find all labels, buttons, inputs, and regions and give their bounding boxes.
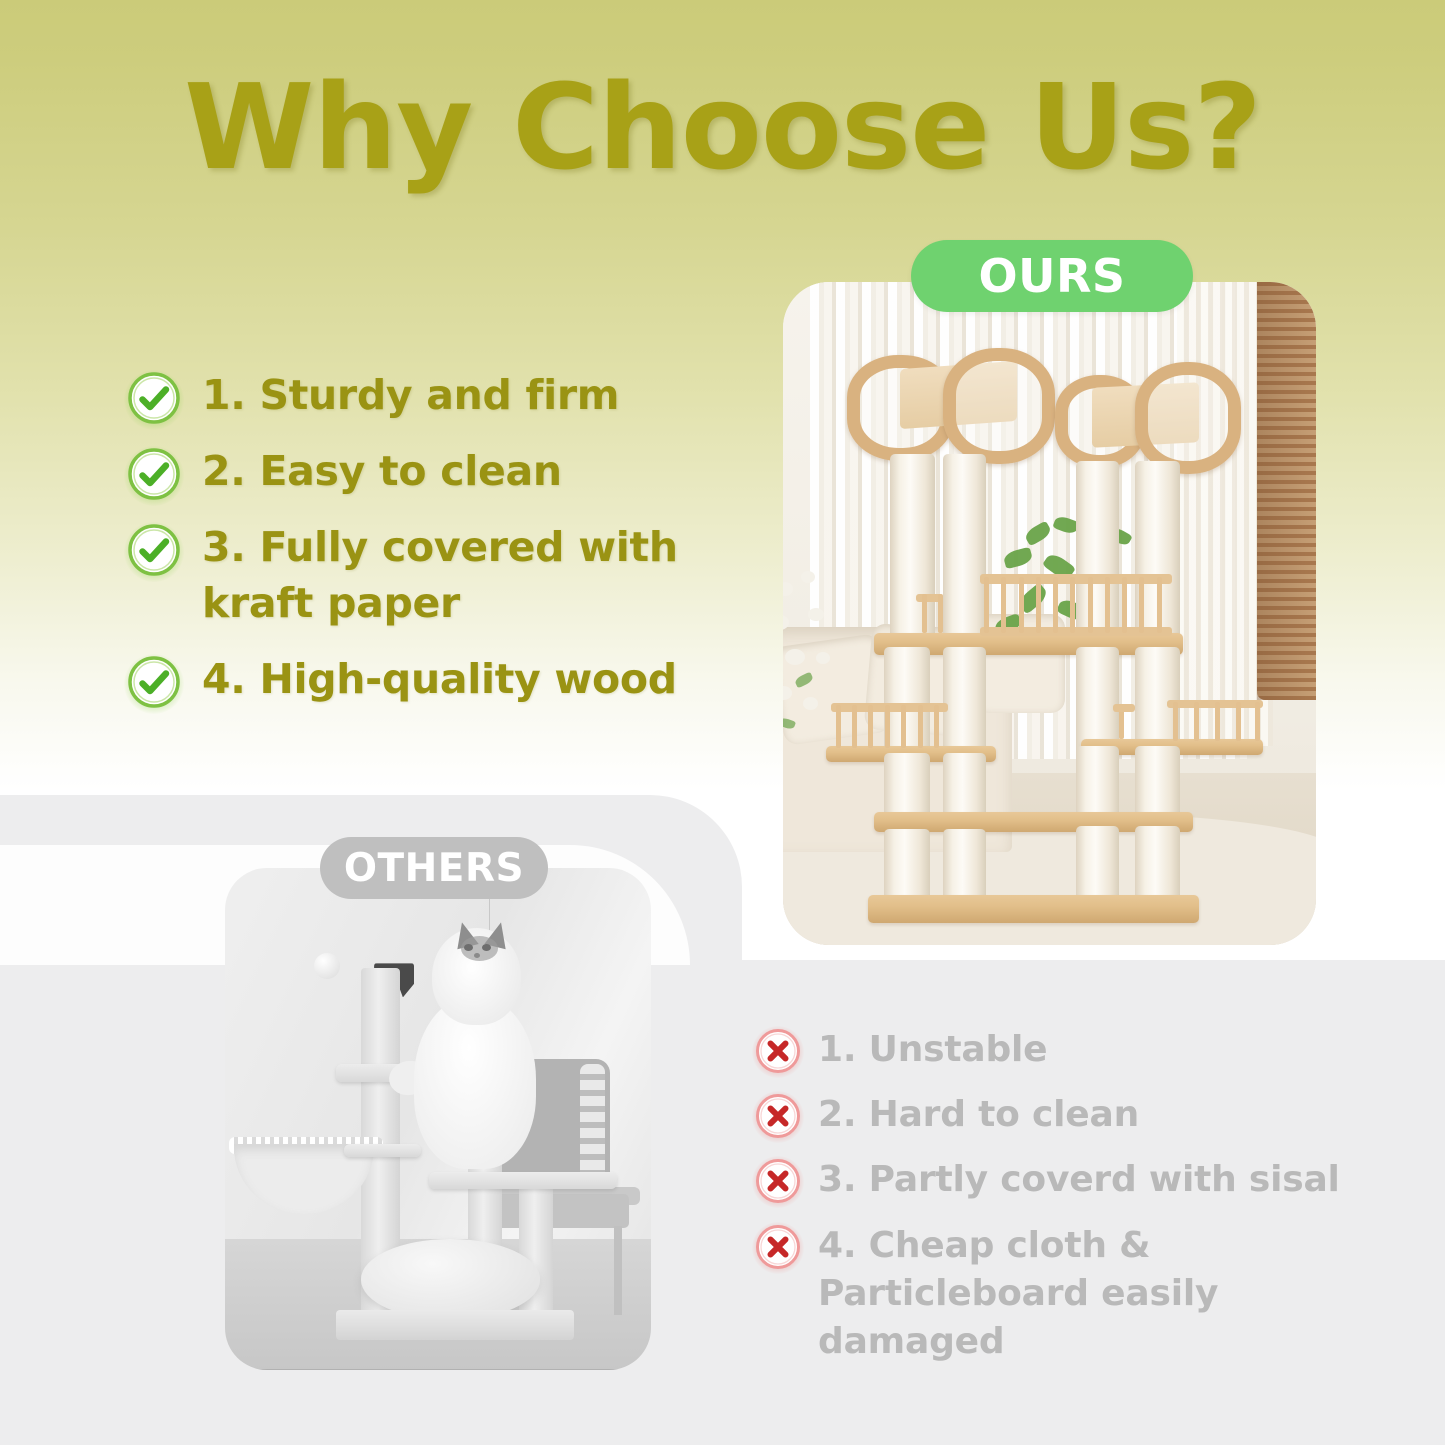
page-title: Why Choose Us? bbox=[0, 58, 1445, 196]
tunnel-perch bbox=[1135, 362, 1242, 475]
tunnel-perch bbox=[943, 348, 1055, 464]
list-item: 2. Easy to clean bbox=[128, 444, 728, 500]
railing-bars bbox=[831, 705, 948, 748]
check-circle-icon bbox=[128, 656, 180, 708]
cat-eye bbox=[482, 944, 491, 951]
others-badge-label: OTHERS bbox=[344, 846, 524, 891]
chair-leg bbox=[614, 1226, 622, 1315]
list-item: 3. Fully covered with kraft paper bbox=[128, 520, 728, 632]
pros-list: 1. Sturdy and firm 2. Easy to clean bbox=[128, 368, 728, 728]
base-board bbox=[336, 1310, 575, 1340]
list-item-label: 4. High-quality wood bbox=[202, 652, 677, 708]
railing-bars bbox=[980, 577, 1172, 633]
list-item: 3. Partly coverd with sisal bbox=[756, 1156, 1416, 1204]
list-item-label: 2. Hard to clean bbox=[818, 1091, 1139, 1139]
floor-line bbox=[225, 1369, 651, 1370]
sisal-post bbox=[890, 454, 935, 653]
list-item-label: 3. Partly coverd with sisal bbox=[818, 1156, 1340, 1204]
round-cat-bed bbox=[361, 1239, 540, 1319]
x-circle-icon bbox=[756, 1225, 800, 1269]
x-circle-icon bbox=[756, 1029, 800, 1073]
list-item-label: 1. Unstable bbox=[818, 1026, 1047, 1074]
others-photo bbox=[225, 868, 651, 1370]
check-circle-icon bbox=[128, 372, 180, 424]
check-circle-icon bbox=[128, 524, 180, 576]
list-item-label: 2. Easy to clean bbox=[202, 444, 562, 500]
ours-badge-label: OURS bbox=[978, 249, 1125, 303]
railing-stub bbox=[1113, 704, 1134, 712]
sisal-post bbox=[943, 454, 986, 653]
list-item: 4. High-quality wood bbox=[128, 652, 728, 708]
base-board bbox=[868, 895, 1198, 923]
cat-eye bbox=[464, 944, 473, 951]
cat-head bbox=[432, 928, 521, 1024]
list-item: 4. Cheap cloth & Particleboard easily da… bbox=[756, 1222, 1416, 1367]
others-scene bbox=[225, 868, 651, 1370]
list-item-label: 1. Sturdy and firm bbox=[202, 368, 619, 424]
check-circle-icon bbox=[128, 448, 180, 500]
railing-bars bbox=[1167, 702, 1263, 742]
x-circle-icon bbox=[756, 1159, 800, 1203]
railing-bar bbox=[938, 594, 943, 634]
list-item: 1. Sturdy and firm bbox=[128, 368, 728, 424]
x-circle-icon bbox=[756, 1094, 800, 1138]
wood-slat-shading bbox=[1257, 282, 1316, 700]
list-item: 1. Unstable bbox=[756, 1026, 1416, 1074]
ours-badge: OURS bbox=[911, 240, 1193, 312]
list-item-label: 4. Cheap cloth & Particleboard easily da… bbox=[818, 1222, 1416, 1367]
platform-middle bbox=[429, 1172, 616, 1189]
railing-bar bbox=[922, 594, 927, 634]
list-item-label: 3. Fully covered with kraft paper bbox=[202, 520, 722, 632]
others-badge: OTHERS bbox=[320, 837, 548, 899]
cons-list: 1. Unstable 2. Hard to clean bbox=[756, 1026, 1416, 1383]
comparison-graphic: Why Choose Us? 1. Sturdy and firm bbox=[0, 0, 1445, 1445]
ours-photo bbox=[783, 282, 1316, 945]
cat bbox=[395, 928, 548, 1169]
ours-scene bbox=[783, 282, 1316, 945]
list-item: 2. Hard to clean bbox=[756, 1091, 1416, 1139]
